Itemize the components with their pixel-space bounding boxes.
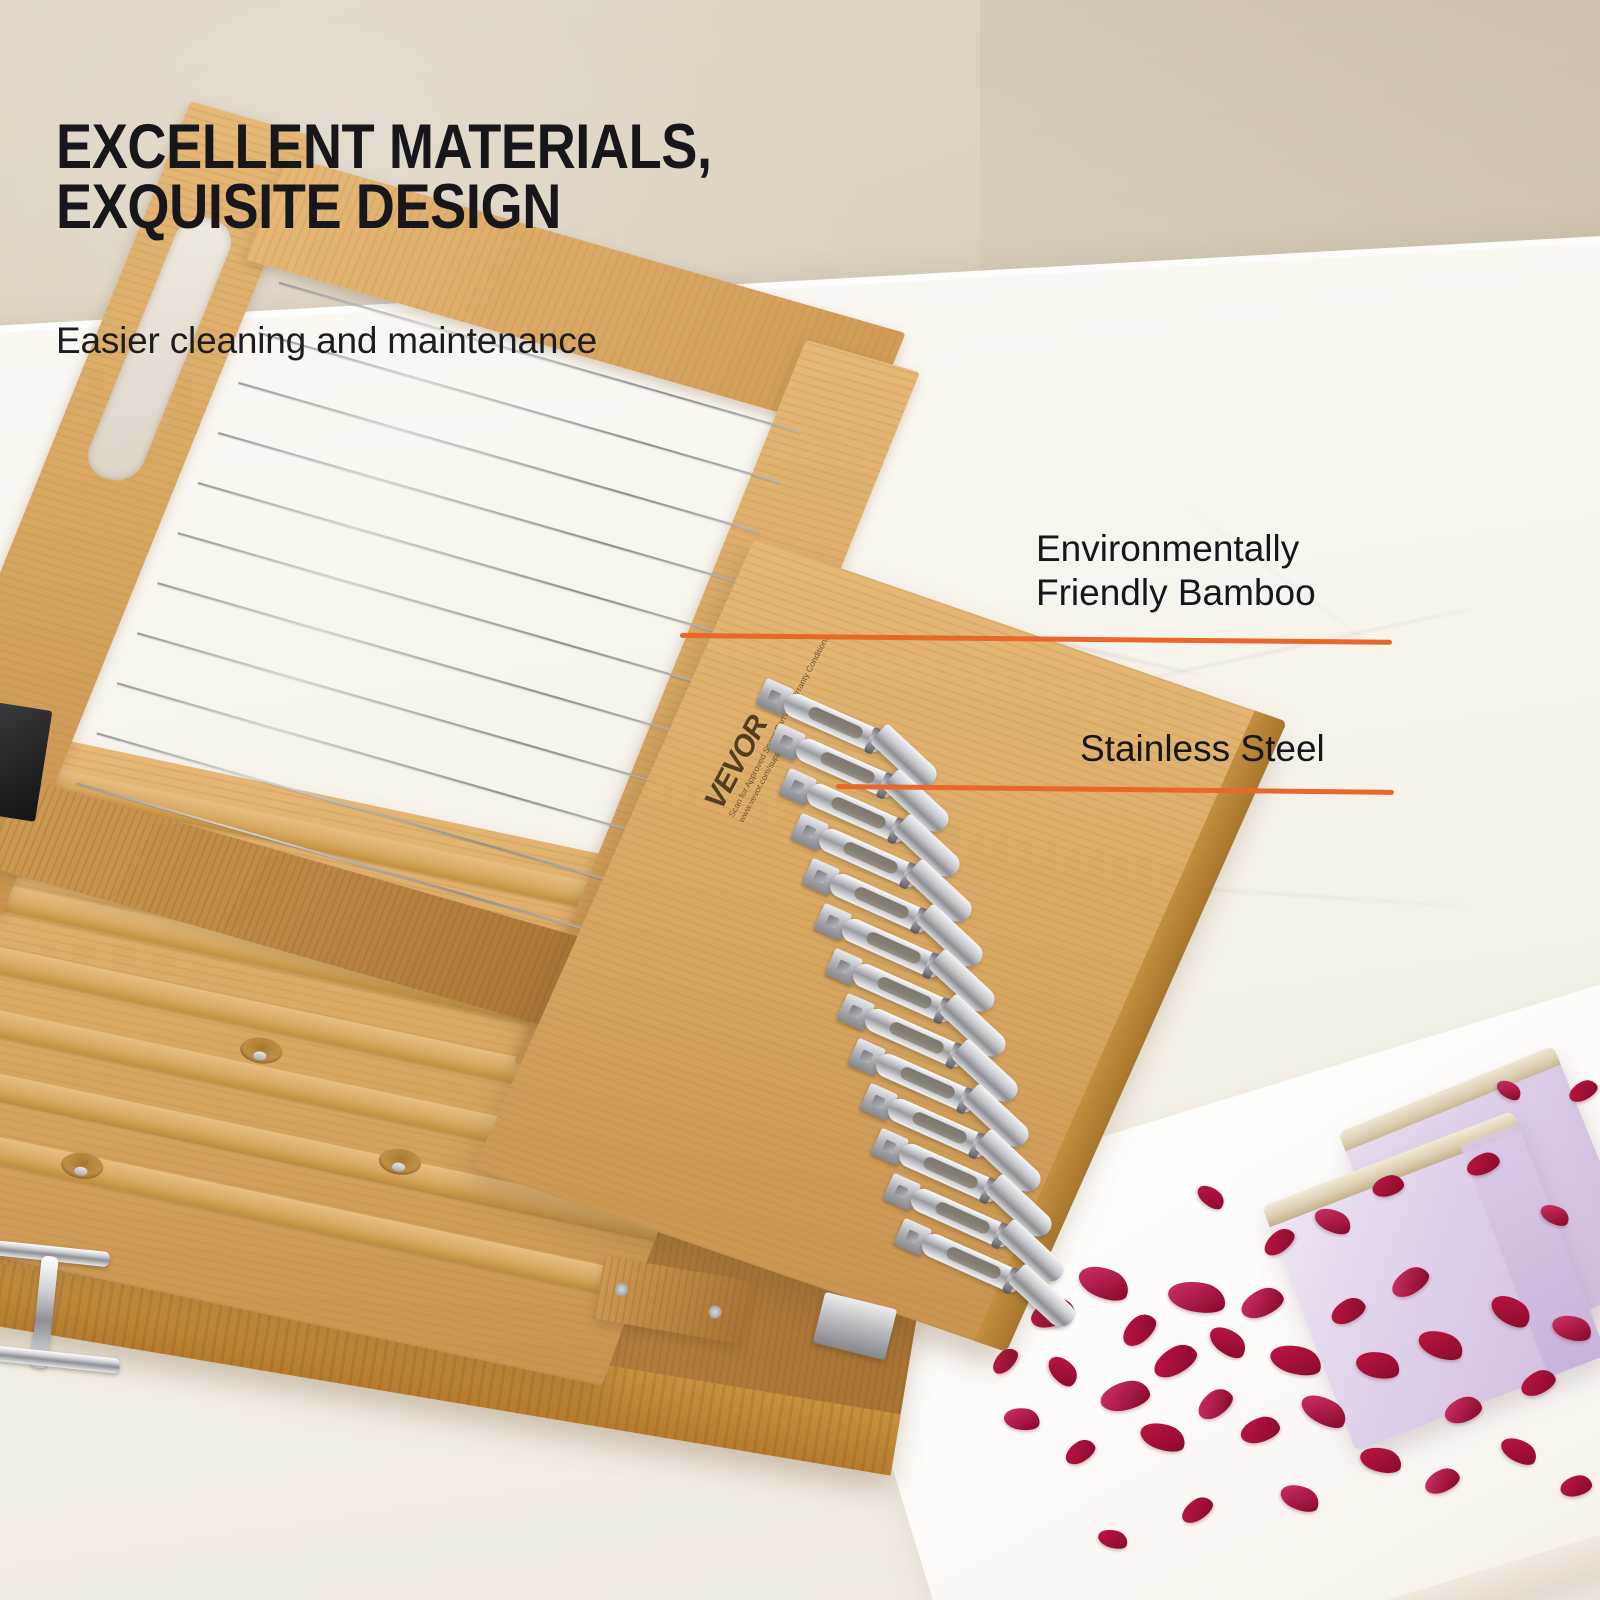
cutting-wire <box>137 632 660 784</box>
serving-board-edge <box>972 1464 1600 1600</box>
product-feature-image: VEVOR Scan for Approved Spare Parts & Wa… <box>0 0 1600 1600</box>
cutting-wire <box>238 382 761 534</box>
cutting-wire <box>157 582 680 734</box>
cutting-wire <box>177 532 700 684</box>
screw <box>708 1304 723 1319</box>
cutting-wire <box>198 482 721 634</box>
callout-label-bamboo: Environmentally Friendly Bamboo <box>1036 527 1316 614</box>
cutting-wire <box>218 432 741 584</box>
screw <box>614 1282 629 1297</box>
marble-vein <box>1122 607 1474 685</box>
callout-label-steel: Stainless Steel <box>1080 727 1325 771</box>
cutting-wire <box>117 682 640 834</box>
page-subtitle: Easier cleaning and maintenance <box>56 320 597 362</box>
page-title: EXCELLENT MATERIALS, EXQUISITE DESIGN <box>56 118 813 238</box>
